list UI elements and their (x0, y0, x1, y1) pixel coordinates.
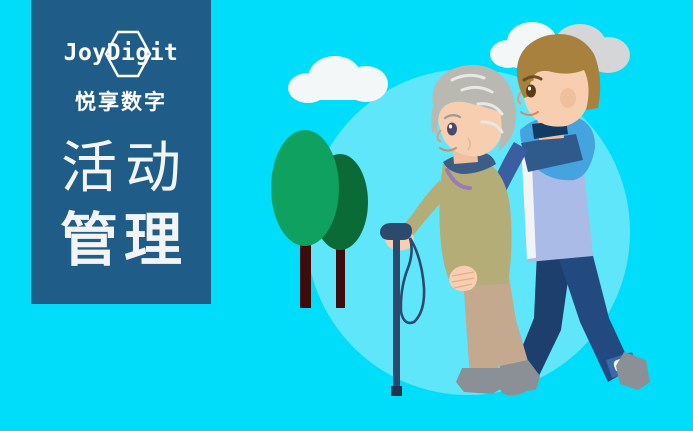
brand-logo: JoyDigit 悦享数字 (31, 30, 211, 126)
page-title-line-2: 管理 (31, 208, 211, 272)
man-eye (526, 85, 536, 98)
woman-top (439, 164, 511, 286)
logo-wordmark: JoyDigit (31, 38, 211, 68)
cane-handle (380, 223, 412, 240)
title-panel: JoyDigit 悦享数字 活动 管理 (31, 0, 211, 304)
woman-eye (447, 123, 457, 136)
man-ear (560, 88, 576, 108)
poster-canvas: JoyDigit 悦享数字 活动 管理 (0, 0, 693, 431)
cane-tip (391, 386, 402, 396)
page-title-line-1: 活动 (31, 138, 211, 200)
logo-subtitle: 悦享数字 (31, 86, 211, 116)
woman-eye-highlight (449, 125, 452, 129)
cane-shaft (393, 240, 400, 392)
man-eye-highlight (528, 87, 531, 91)
